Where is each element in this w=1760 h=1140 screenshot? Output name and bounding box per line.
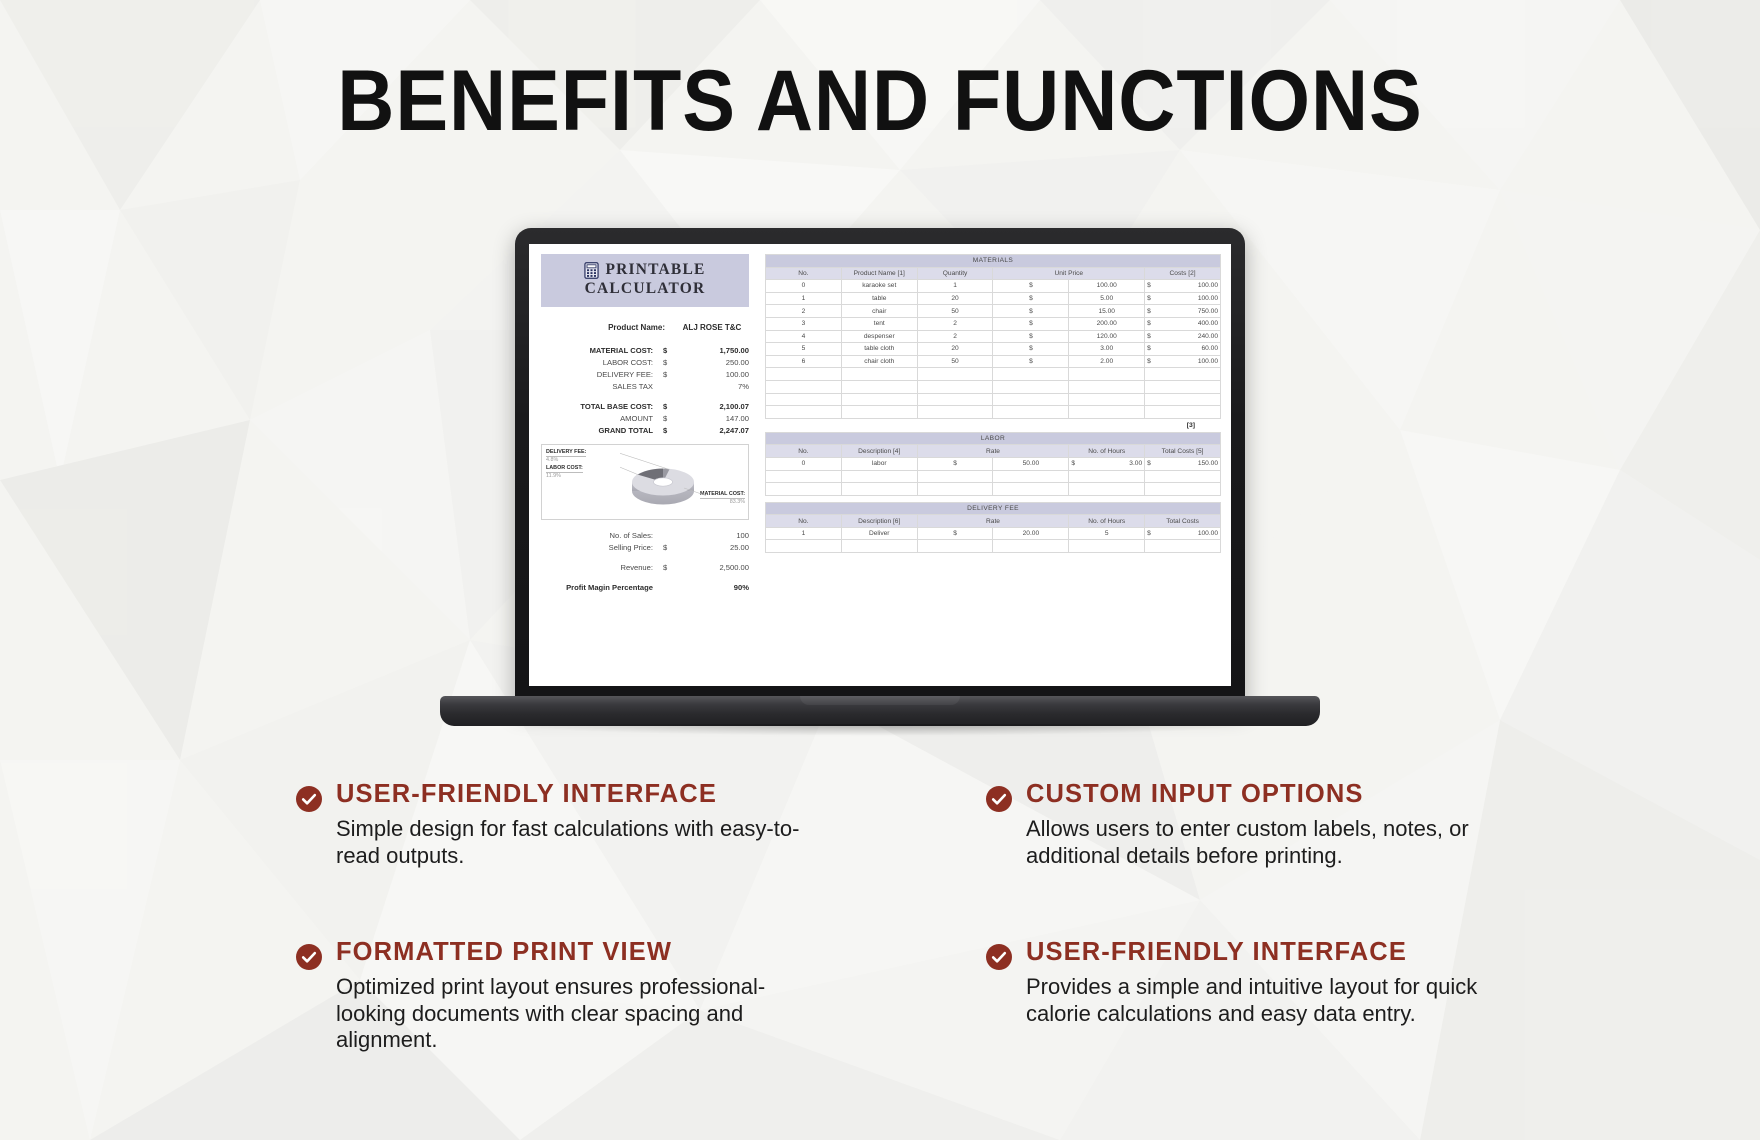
table-row-empty-cell [917, 540, 993, 553]
materials-cell-qty: 20 [917, 292, 993, 305]
table-row-empty-cell [993, 380, 1069, 393]
delivery-cell-desc: Deliver [841, 527, 917, 540]
sales-summary-currency: $ [663, 543, 675, 552]
pie-label-labor-pct: 11.9% [546, 473, 583, 480]
table-row-empty-cell [917, 368, 993, 381]
page-title: BENEFITS AND FUNCTIONS [70, 58, 1689, 146]
delivery-cell-total: $100.00 [1145, 527, 1221, 540]
laptop-shadow [500, 724, 1260, 736]
check-circle-icon [986, 944, 1012, 1055]
sales-summary-label: Profit Magin Percentage [541, 583, 663, 592]
labor-table-header-row: No. Description [4] Rate No. of Hours To… [766, 445, 1221, 458]
product-name-value: ALJ ROSE T&C [675, 323, 749, 332]
cost-summary-list: MATERIAL COST:$1,750.00LABOR COST:$250.0… [541, 346, 749, 435]
labor-header-rate: Rate [917, 445, 1069, 458]
cost-summary-value: 250.00 [675, 358, 749, 367]
table-row-empty-cell [766, 380, 842, 393]
table-row-empty-cell [1145, 380, 1221, 393]
sales-summary-value: 2,500.00 [675, 563, 749, 572]
table-row-empty-cell [917, 470, 993, 483]
cost-summary-value: 2,100.07 [675, 402, 749, 411]
table-row: 1table20$5.00$100.00 [766, 292, 1221, 305]
table-row-empty-cell [841, 380, 917, 393]
feature-card: FORMATTED PRINT VIEW Optimized print lay… [296, 938, 996, 1055]
table-row: 5table cloth20$3.00$60.00 [766, 343, 1221, 356]
table-row-empty [766, 540, 1221, 553]
cost-summary-value: 2,247.07 [675, 426, 749, 435]
cost-summary-row: TOTAL BASE COST:$2,100.07 [541, 402, 749, 411]
table-row-empty-cell [766, 368, 842, 381]
table-row-empty-cell [1145, 470, 1221, 483]
labor-table-title: LABOR [766, 432, 1221, 445]
labor-table-title-row: LABOR [766, 432, 1221, 445]
materials-cell-cost: $100.00 [1145, 292, 1221, 305]
cost-summary-label: TOTAL BASE COST: [541, 402, 663, 411]
materials-cell-qty: 50 [917, 355, 993, 368]
materials-table-title-row: MATERIALS [766, 255, 1221, 268]
table-row-empty-cell [766, 470, 842, 483]
table-row-empty-cell [917, 393, 993, 406]
materials-cell-no: 1 [766, 292, 842, 305]
feature-card: USER-FRIENDLY INTERFACE Simple design fo… [296, 780, 996, 870]
sales-summary-value: 100 [675, 531, 749, 540]
sales-summary-row: Profit Magin Percentage90% [541, 583, 749, 592]
materials-cell-unit-currency: $ [993, 343, 1069, 356]
delivery-cell-hours: 5 [1069, 527, 1145, 540]
table-row-empty-cell [841, 540, 917, 553]
table-row-empty-cell [993, 470, 1069, 483]
laptop-base [440, 696, 1320, 726]
pie-label-material-pct: 83.3% [700, 499, 745, 506]
product-name-label: Product Name: [541, 323, 675, 332]
table-row-empty-cell [1145, 393, 1221, 406]
table-row-empty-cell [917, 483, 993, 496]
table-row-empty-cell [1069, 406, 1145, 419]
table-row-empty-cell [993, 368, 1069, 381]
materials-cell-unit-price: 100.00 [1069, 280, 1145, 293]
delivery-table-body: 1Deliver$20.005$100.00 [766, 527, 1221, 552]
table-row-empty [766, 380, 1221, 393]
materials-cell-unit-price: 3.00 [1069, 343, 1145, 356]
sales-summary-label: No. of Sales: [541, 531, 663, 540]
materials-table-header-row: No. Product Name [1] Quantity Unit Price… [766, 267, 1221, 280]
cost-summary-label: DELIVERY FEE: [541, 370, 663, 379]
cost-summary-currency: $ [663, 426, 675, 435]
spreadsheet: PRINTABLE CALCULATOR Product Name: ALJ R… [529, 244, 1231, 686]
materials-cell-unit-currency: $ [993, 305, 1069, 318]
materials-cell-name: table cloth [841, 343, 917, 356]
feature-description: Optimized print layout ensures professio… [336, 974, 806, 1054]
materials-cell-unit-price: 5.00 [1069, 292, 1145, 305]
labor-cell-total: $150.00 [1145, 457, 1221, 470]
delivery-header-no: No. [766, 515, 842, 528]
laptop-lid: PRINTABLE CALCULATOR Product Name: ALJ R… [515, 228, 1245, 708]
sales-summary-currency: $ [663, 563, 675, 572]
sales-summary-list: No. of Sales:100Selling Price:$25.00Reve… [541, 531, 749, 592]
materials-cell-name: chair cloth [841, 355, 917, 368]
pie-label-material-text: MATERIAL COST: [700, 491, 745, 499]
spreadsheet-right-panel: MATERIALS No. Product Name [1] Quantity … [761, 244, 1231, 686]
table-row-empty [766, 406, 1221, 419]
table-row-empty-cell [1069, 540, 1145, 553]
sales-summary-value: 90% [675, 583, 749, 592]
feature-title: USER-FRIENDLY INTERFACE [336, 780, 996, 808]
materials-cell-no: 0 [766, 280, 842, 293]
delivery-table-header-row: No. Description [6] Rate No. of Hours To… [766, 515, 1221, 528]
calculator-icon [584, 262, 599, 279]
materials-cell-unit-currency: $ [993, 280, 1069, 293]
labor-header-no: No. [766, 445, 842, 458]
feature-title: CUSTOM INPUT OPTIONS [1026, 780, 1686, 808]
materials-cell-name: despenser [841, 330, 917, 343]
sales-summary-row: No. of Sales:100 [541, 531, 749, 540]
table-row-empty [766, 470, 1221, 483]
sales-summary-label: Revenue: [541, 563, 663, 572]
delivery-header-desc: Description [6] [841, 515, 917, 528]
pie-label-delivery: DELIVERY FEE: 4.8% [546, 449, 586, 464]
delivery-header-hours: No. of Hours [1069, 515, 1145, 528]
delivery-header-rate: Rate [917, 515, 1069, 528]
cost-summary-row: LABOR COST:$250.00 [541, 358, 749, 367]
pie-label-material: MATERIAL COST: 83.3% [700, 491, 745, 506]
table-row-empty-cell [766, 406, 842, 419]
cost-summary-row: DELIVERY FEE:$100.00 [541, 370, 749, 379]
materials-cell-no: 4 [766, 330, 842, 343]
table-row-empty-cell [1145, 483, 1221, 496]
table-row-empty-cell [766, 540, 842, 553]
labor-header-desc: Description [4] [841, 445, 917, 458]
table-row-empty-cell [1145, 368, 1221, 381]
materials-table-title: MATERIALS [766, 255, 1221, 268]
brand-line-2: CALCULATOR [545, 280, 745, 298]
pie-label-labor: LABOR COST: 11.9% [546, 465, 583, 480]
table-row-empty-cell [1069, 368, 1145, 381]
delivery-cell-no: 1 [766, 527, 842, 540]
table-row-empty-cell [841, 368, 917, 381]
cost-summary-currency: $ [663, 346, 675, 355]
delivery-cell-rate: 20.00 [993, 527, 1069, 540]
labor-cell-rate-currency: $ [917, 457, 993, 470]
materials-cell-no: 5 [766, 343, 842, 356]
materials-cell-unit-currency: $ [993, 355, 1069, 368]
materials-cell-qty: 20 [917, 343, 993, 356]
table-row-empty-cell [1069, 393, 1145, 406]
materials-cell-unit-price: 2.00 [1069, 355, 1145, 368]
check-circle-icon [296, 944, 322, 1055]
table-row-empty-cell [841, 483, 917, 496]
labor-table-body: 0labor$50.00$3.00$150.00 [766, 457, 1221, 495]
materials-cell-name: tent [841, 317, 917, 330]
cost-summary-value: 147.00 [675, 414, 749, 423]
table-row-empty-cell [1069, 483, 1145, 496]
table-row: 0labor$50.00$3.00$150.00 [766, 457, 1221, 470]
materials-header-qty: Quantity [917, 267, 993, 280]
materials-cell-unit-currency: $ [993, 317, 1069, 330]
labor-header-hours: No. of Hours [1069, 445, 1145, 458]
delivery-table: DELIVERY FEE No. Description [6] Rate No… [765, 502, 1221, 553]
cost-summary-currency: $ [663, 358, 675, 367]
laptop-screen: PRINTABLE CALCULATOR Product Name: ALJ R… [529, 244, 1231, 686]
delivery-table-title-row: DELIVERY FEE [766, 502, 1221, 515]
table-row: 3tent2$200.00$400.00 [766, 317, 1221, 330]
laptop-mockup: PRINTABLE CALCULATOR Product Name: ALJ R… [440, 228, 1320, 728]
table-row-empty-cell [917, 380, 993, 393]
table-row-empty-cell [993, 540, 1069, 553]
pie-label-delivery-pct: 4.8% [546, 457, 586, 464]
cost-summary-label: LABOR COST: [541, 358, 663, 367]
table-row-empty-cell [993, 483, 1069, 496]
delivery-cell-rate-currency: $ [917, 527, 993, 540]
feature-title: FORMATTED PRINT VIEW [336, 938, 996, 966]
table-row-empty-cell [841, 393, 917, 406]
materials-cell-qty: 2 [917, 317, 993, 330]
table-row-empty-cell [1145, 406, 1221, 419]
materials-cell-no: 3 [766, 317, 842, 330]
labor-header-total: Total Costs [5] [1145, 445, 1221, 458]
table-row: 4despenser2$120.00$240.00 [766, 330, 1221, 343]
features-section: USER-FRIENDLY INTERFACE Simple design fo… [0, 780, 1760, 1054]
materials-cell-qty: 1 [917, 280, 993, 293]
cost-distribution-chart: DELIVERY FEE: 4.8% LABOR COST: 11.9% MAT… [541, 444, 749, 520]
feature-description: Simple design for fast calculations with… [336, 816, 806, 870]
table-row-empty-cell [917, 406, 993, 419]
materials-footnote: [3] [765, 419, 1221, 432]
cost-summary-row: AMOUNT$147.00 [541, 414, 749, 423]
table-row-empty-cell [841, 406, 917, 419]
table-row-empty-cell [1145, 540, 1221, 553]
materials-cell-name: table [841, 292, 917, 305]
sales-summary-value: 25.00 [675, 543, 749, 552]
table-row-empty-cell [766, 483, 842, 496]
cost-summary-label: GRAND TOTAL [541, 426, 663, 435]
materials-cell-unit-price: 200.00 [1069, 317, 1145, 330]
materials-cell-cost: $100.00 [1145, 280, 1221, 293]
sales-summary-row: Revenue:$2,500.00 [541, 563, 749, 572]
table-row: 6chair cloth50$2.00$100.00 [766, 355, 1221, 368]
materials-table-body: 0karaoke set1$100.00$100.001table20$5.00… [766, 280, 1221, 419]
labor-table: LABOR No. Description [4] Rate No. of Ho… [765, 432, 1221, 496]
materials-cell-no: 2 [766, 305, 842, 318]
materials-cell-qty: 2 [917, 330, 993, 343]
feature-description: Allows users to enter custom labels, not… [1026, 816, 1506, 870]
materials-cell-cost: $60.00 [1145, 343, 1221, 356]
cost-summary-value: 7% [675, 382, 749, 391]
cost-summary-currency: $ [663, 414, 675, 423]
feature-description: Provides a simple and intuitive layout f… [1026, 974, 1506, 1028]
cost-summary-row: MATERIAL COST:$1,750.00 [541, 346, 749, 355]
materials-header-costs: Costs [2] [1145, 267, 1221, 280]
materials-cell-cost: $100.00 [1145, 355, 1221, 368]
pie-label-delivery-text: DELIVERY FEE: [546, 449, 586, 457]
materials-cell-cost: $750.00 [1145, 305, 1221, 318]
check-circle-icon [986, 786, 1012, 870]
table-row: 2chair50$15.00$750.00 [766, 305, 1221, 318]
delivery-header-total: Total Costs [1145, 515, 1221, 528]
labor-cell-hours: $3.00 [1069, 457, 1145, 470]
cost-summary-label: MATERIAL COST: [541, 346, 663, 355]
table-row-empty [766, 368, 1221, 381]
pie-label-labor-text: LABOR COST: [546, 465, 583, 473]
table-row-empty-cell [766, 393, 842, 406]
table-row-empty-cell [993, 406, 1069, 419]
table-row-empty-cell [1069, 380, 1145, 393]
materials-header-no: No. [766, 267, 842, 280]
materials-cell-name: chair [841, 305, 917, 318]
feature-card: CUSTOM INPUT OPTIONS Allows users to ent… [986, 780, 1686, 870]
table-row-empty-cell [993, 393, 1069, 406]
materials-cell-cost: $240.00 [1145, 330, 1221, 343]
materials-header-unit-price: Unit Price [993, 267, 1145, 280]
sales-summary-label: Selling Price: [541, 543, 663, 552]
brand-header: PRINTABLE CALCULATOR [541, 254, 749, 307]
cost-summary-row: GRAND TOTAL$2,247.07 [541, 426, 749, 435]
check-circle-icon [296, 786, 322, 870]
product-name-row: Product Name: ALJ ROSE T&C [541, 323, 749, 332]
sales-summary-row: Selling Price:$25.00 [541, 543, 749, 552]
labor-cell-rate: 50.00 [993, 457, 1069, 470]
cost-summary-label: AMOUNT [541, 414, 663, 423]
feature-title: USER-FRIENDLY INTERFACE [1026, 938, 1686, 966]
spreadsheet-left-panel: PRINTABLE CALCULATOR Product Name: ALJ R… [529, 244, 761, 686]
table-row-empty [766, 483, 1221, 496]
table-row-empty-cell [841, 470, 917, 483]
materials-cell-unit-currency: $ [993, 292, 1069, 305]
cost-summary-value: 100.00 [675, 370, 749, 379]
table-row-empty [766, 393, 1221, 406]
materials-cell-unit-price: 15.00 [1069, 305, 1145, 318]
cost-summary-label: SALES TAX [541, 382, 663, 391]
materials-cell-no: 6 [766, 355, 842, 368]
donut-pie-svg [620, 451, 706, 515]
materials-header-name: Product Name [1] [841, 267, 917, 280]
brand-line-1: PRINTABLE [605, 261, 705, 279]
cost-summary-value: 1,750.00 [675, 346, 749, 355]
table-row: 1Deliver$20.005$100.00 [766, 527, 1221, 540]
materials-cell-cost: $400.00 [1145, 317, 1221, 330]
table-row: 0karaoke set1$100.00$100.00 [766, 280, 1221, 293]
materials-cell-name: karaoke set [841, 280, 917, 293]
labor-cell-no: 0 [766, 457, 842, 470]
materials-cell-unit-currency: $ [993, 330, 1069, 343]
materials-table: MATERIALS No. Product Name [1] Quantity … [765, 254, 1221, 419]
labor-cell-desc: labor [841, 457, 917, 470]
materials-cell-unit-price: 120.00 [1069, 330, 1145, 343]
cost-summary-currency: $ [663, 402, 675, 411]
cost-summary-row: SALES TAX7% [541, 382, 749, 391]
cost-summary-currency: $ [663, 370, 675, 379]
delivery-table-title: DELIVERY FEE [766, 502, 1221, 515]
materials-cell-qty: 50 [917, 305, 993, 318]
table-row-empty-cell [1069, 470, 1145, 483]
feature-card: USER-FRIENDLY INTERFACE Provides a simpl… [986, 938, 1686, 1055]
